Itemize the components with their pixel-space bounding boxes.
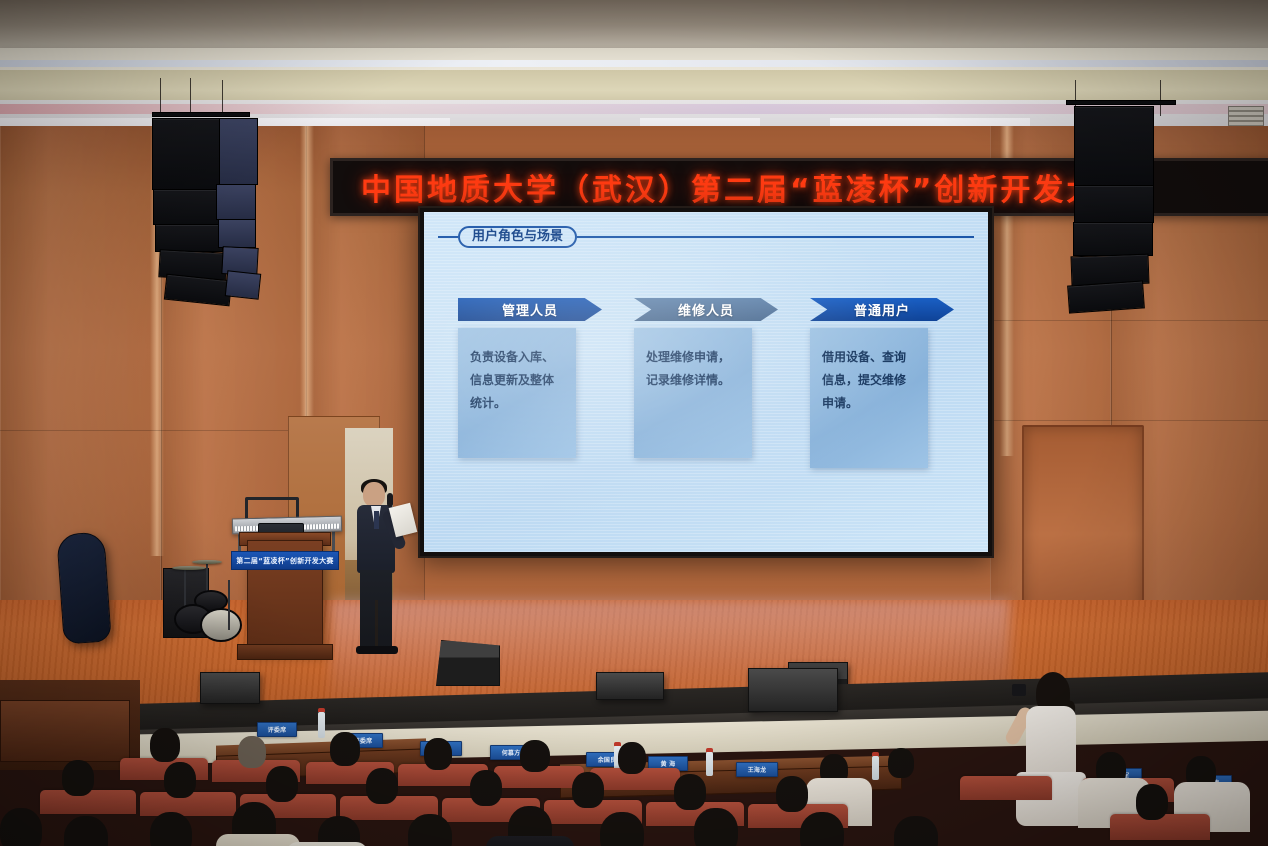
speaker-cabinet: [225, 270, 262, 299]
speaker-cabinet: [153, 189, 221, 225]
audience-head: [424, 738, 452, 770]
bass-drum: [200, 608, 242, 642]
speaker-cabinet: [1074, 185, 1154, 223]
podium-base: [237, 644, 333, 660]
cymbal: [192, 560, 222, 564]
audience-head: [618, 742, 646, 774]
audience-head: [1136, 784, 1168, 820]
role-card: 普通用户 借用设备、查询信息，提交维修申请。: [810, 298, 954, 468]
podium-banner-text: 第二届“蓝凌杯”创新开发大赛: [236, 556, 333, 566]
speaker-cabinet: [155, 224, 223, 252]
drum-kit: [176, 560, 246, 638]
speaker-rigging-wire: [160, 78, 161, 114]
audience-head: [572, 772, 604, 808]
role-card-list: 管理人员 负责设备入库、信息更新及整体统计。 维修人员 处理维修申请，记录维修详…: [458, 298, 954, 468]
audience-head: [62, 760, 94, 796]
speaker-rigging-wire: [222, 80, 223, 116]
seat: [960, 776, 1052, 800]
audience-head: [0, 808, 42, 846]
title-rule-right: [577, 236, 974, 238]
audience-head: [674, 774, 706, 810]
audience-head: [64, 816, 108, 846]
audience-body: [486, 836, 574, 846]
auditorium-photo: 中国地质大学（武汉）第二届“蓝凌杯”创新开发大赛 用户: [0, 0, 1268, 846]
cymbal: [172, 566, 206, 570]
led-banner-text: 中国地质大学（武汉）第二届“蓝凌杯”创新开发大赛: [333, 165, 1132, 209]
audience-head: [366, 768, 398, 804]
speaker-cabinet: [1067, 280, 1145, 313]
speaker-rigging-wire: [1160, 80, 1161, 116]
audience-head: [600, 812, 644, 846]
wall-seam: [0, 430, 330, 431]
audience-head: [150, 812, 192, 846]
speaker-fly-bar: [1066, 100, 1176, 105]
audience-head: [164, 762, 196, 798]
speaker-cabinet: [218, 219, 256, 248]
role-card-header: 维修人员: [634, 298, 778, 321]
equipment-case: [200, 672, 260, 704]
audience-head: [520, 740, 550, 772]
speaker-cabinet: [152, 118, 220, 190]
audience-head: [238, 736, 266, 768]
speaker-cabinet: [216, 118, 258, 185]
drum-stand: [228, 580, 230, 630]
role-card-header: 普通用户: [810, 298, 954, 321]
speaker-cabinet: [216, 184, 256, 220]
presenter-shoes: [356, 646, 398, 654]
presenter-leg-gap: [375, 600, 378, 650]
role-card-text: 处理维修申请，记录维修详情。: [646, 346, 740, 392]
audience-head: [266, 766, 298, 802]
stage-monitor-wedge: [436, 640, 500, 686]
equipment-case: [596, 672, 664, 700]
audience-head: [694, 808, 738, 846]
audience-body: [286, 842, 368, 846]
audience-head: [470, 770, 502, 806]
audience-head: [800, 812, 844, 846]
projection-screen: 用户角色与场景 管理人员 负责设备入库、信息更新及整体统计。 维修人员 处理维修…: [418, 206, 994, 558]
speaker-cabinet: [1074, 106, 1154, 186]
microphone: [387, 493, 393, 507]
role-card: 维修人员 处理维修申请，记录维修详情。: [634, 298, 778, 468]
ceiling-light-strip: [0, 60, 1268, 67]
wall-seam: [990, 420, 1268, 421]
speaker-fly-bar: [152, 112, 250, 117]
presenter-head: [363, 482, 385, 507]
slide-title: 用户角色与场景: [458, 226, 577, 248]
presenter-necktie: [374, 511, 379, 529]
audience-head: [776, 776, 808, 812]
podium-banner: 第二届“蓝凌杯”创新开发大赛: [231, 551, 339, 570]
role-card-header: 管理人员: [458, 298, 602, 321]
role-card-text: 负责设备入库、信息更新及整体统计。: [470, 346, 564, 414]
audience-head: [408, 814, 452, 846]
role-card: 管理人员 负责设备入库、信息更新及整体统计。: [458, 298, 602, 468]
role-card-text: 借用设备、查询信息，提交维修申请。: [822, 346, 916, 414]
role-card-body: 负责设备入库、信息更新及整体统计。: [458, 328, 576, 458]
camera: [1012, 684, 1026, 696]
role-card-body: 借用设备、查询信息，提交维修申请。: [810, 328, 928, 468]
audience-head: [150, 728, 180, 762]
audience-seating: [0, 716, 1268, 846]
audience-head: [888, 748, 914, 778]
guitar-case: [56, 531, 112, 644]
equipment-case: [748, 668, 838, 712]
role-card-body: 处理维修申请，记录维修详情。: [634, 328, 752, 458]
speaker-cabinet: [1073, 222, 1153, 256]
title-rule-left: [438, 236, 458, 238]
wall-seam: [990, 320, 1268, 321]
slide-title-bar: 用户角色与场景: [438, 224, 974, 250]
audience-head: [894, 816, 938, 846]
projected-slide: 用户角色与场景 管理人员 负责设备入库、信息更新及整体统计。 维修人员 处理维修…: [424, 212, 988, 552]
speaker-rigging-wire: [190, 78, 191, 112]
audience-head: [330, 732, 360, 766]
monitor-grille: [437, 641, 499, 685]
audience-body: [216, 834, 300, 846]
